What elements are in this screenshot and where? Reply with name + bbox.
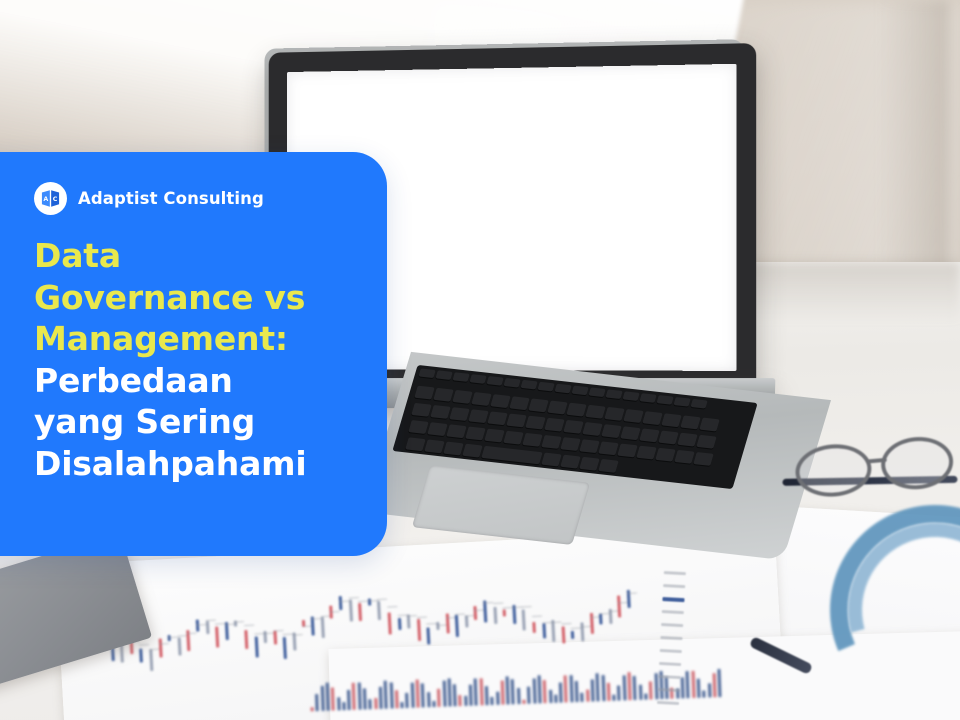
- candlestick: [561, 626, 565, 643]
- candlestick: [532, 622, 536, 633]
- axis-tick-label: [658, 688, 680, 692]
- keyboard-key: [560, 437, 581, 451]
- axis-tick-label: [662, 610, 684, 614]
- volume-bar: [421, 683, 425, 707]
- keyboard-key: [446, 424, 467, 438]
- keyboard-key: [674, 450, 695, 464]
- keyboard-key: [661, 413, 682, 427]
- keyboard-key: [604, 407, 625, 421]
- keyboard-key: [690, 399, 707, 409]
- volume-bar: [517, 688, 521, 704]
- chart-trend-line: [159, 643, 169, 645]
- chart-trend-line: [168, 636, 178, 638]
- chart-trend-line: [149, 648, 159, 650]
- chart-trend-line: [542, 622, 552, 624]
- candlestick: [149, 649, 153, 671]
- candlestick: [339, 596, 343, 610]
- svg-text:A: A: [43, 196, 48, 203]
- keyboard-key: [642, 411, 663, 425]
- candlestick: [551, 620, 555, 642]
- adaptist-book-monogram-icon: A C: [34, 182, 67, 215]
- axis-tick-label: [657, 701, 679, 705]
- volume-bar: [501, 681, 505, 705]
- headline-line-3: Management:: [34, 318, 353, 360]
- keyboard-key: [418, 368, 435, 378]
- keyboard-key: [554, 384, 571, 394]
- candlestick: [455, 615, 459, 636]
- volume-bar: [337, 697, 340, 710]
- headline-line-2: Governance vs: [34, 277, 353, 319]
- volume-bar: [537, 675, 541, 703]
- chart-trend-line: [455, 614, 465, 616]
- keyboard-key: [509, 396, 530, 410]
- brand-lockup: A C Adaptist Consulting: [34, 182, 353, 215]
- chart-trend-line: [205, 619, 215, 621]
- keyboard-key: [452, 390, 473, 404]
- keyboard-key: [563, 420, 584, 434]
- brand-name: Adaptist Consulting: [78, 189, 264, 208]
- candlestick: [427, 627, 431, 645]
- volume-bar: [357, 682, 361, 709]
- volume-bar: [342, 702, 345, 710]
- chart-trend-line: [571, 628, 581, 630]
- volume-bar: [464, 696, 467, 706]
- volume-bar: [575, 681, 579, 702]
- chart-trend-line: [358, 601, 368, 603]
- chart-trend-line: [225, 624, 235, 626]
- candlestick: [474, 606, 478, 620]
- chart-trend-line: [339, 600, 349, 602]
- volume-bar: [474, 678, 478, 705]
- volume-bar: [432, 701, 435, 707]
- candlestick: [215, 626, 219, 648]
- volume-bar: [442, 680, 446, 706]
- candlestick: [599, 614, 603, 625]
- candlestick: [321, 617, 325, 639]
- candlestick: [254, 636, 258, 658]
- chart-trend-line: [618, 602, 628, 604]
- chart-trend-line: [512, 606, 522, 608]
- keyboard-key: [411, 403, 432, 417]
- chart-trend-line: [368, 600, 378, 602]
- volume-bar: [374, 698, 377, 710]
- keyboard-key: [620, 426, 641, 440]
- keyboard-key: [486, 376, 503, 386]
- candlestick: [571, 631, 574, 639]
- keyboard-key: [443, 442, 464, 456]
- keyboard-key: [547, 401, 568, 415]
- volume-bar: [405, 693, 409, 708]
- candlestick: [140, 649, 144, 662]
- volume-bar: [527, 687, 531, 704]
- candlestick: [445, 614, 449, 633]
- volume-bar: [522, 700, 525, 704]
- volume-bar: [447, 679, 451, 707]
- candlestick: [542, 623, 546, 638]
- candlestick: [196, 619, 200, 632]
- volume-bar: [320, 685, 324, 710]
- volume-bar: [601, 675, 605, 701]
- volume-bar: [416, 680, 420, 708]
- axis-tick-label: [660, 636, 682, 640]
- chart-trend-line: [407, 615, 417, 617]
- candlestick: [522, 610, 526, 631]
- chart-trend-line: [377, 599, 387, 601]
- volume-bar: [639, 685, 643, 700]
- volume-bar: [401, 702, 404, 708]
- keyboard-key: [484, 429, 505, 443]
- candlestick: [377, 601, 381, 620]
- volume-bar: [718, 669, 722, 697]
- eyeglasses-left-lens: [793, 441, 873, 499]
- keyboard-key: [471, 392, 492, 406]
- volume-bar: [352, 683, 356, 710]
- title-card: A C Adaptist Consulting Data Governance …: [0, 152, 387, 556]
- chart-trend-line: [311, 618, 321, 620]
- keyboard-key: [677, 433, 698, 447]
- chart-trend-line: [387, 606, 397, 608]
- keyboard-key: [487, 411, 508, 425]
- volume-bar: [326, 683, 330, 711]
- chart-trend-line: [177, 635, 187, 637]
- chart-trend-line: [321, 616, 331, 618]
- candlestick: [388, 613, 392, 634]
- volume-bar: [612, 695, 615, 701]
- chart-trend-line: [283, 633, 293, 635]
- volume-bar: [369, 700, 372, 710]
- volume-bar: [549, 690, 552, 703]
- chart-trend-line: [293, 634, 303, 636]
- keyboard-key: [622, 391, 639, 401]
- chart-trend-line: [254, 633, 264, 635]
- volume-bar: [479, 679, 483, 706]
- volume-bar: [543, 680, 547, 703]
- volume-bar: [712, 674, 716, 698]
- keyboard-key: [520, 380, 537, 390]
- volume-bar: [427, 692, 431, 707]
- chart-trend-line: [273, 630, 283, 632]
- keyboard-key: [424, 439, 445, 453]
- volume-bar: [485, 686, 489, 706]
- chart-trend-line: [581, 626, 591, 628]
- volume-bar: [496, 691, 499, 704]
- volume-bar: [649, 681, 653, 699]
- chart-trend-line: [503, 607, 513, 609]
- headline-line-6: Disalahpahami: [34, 443, 353, 485]
- volume-bar: [554, 695, 557, 703]
- chart-trend-line: [139, 644, 149, 646]
- keyboard-key: [601, 424, 622, 438]
- axis-tick-label: [662, 597, 684, 602]
- chart-trend-line: [599, 613, 609, 615]
- volume-bar: [363, 688, 367, 709]
- chart-trend-line: [522, 606, 532, 608]
- volume-bar: [469, 685, 473, 706]
- candlestick: [358, 603, 362, 621]
- keyboard-key: [525, 416, 546, 430]
- chart-trend-line: [483, 602, 493, 604]
- volume-bar: [564, 675, 568, 702]
- headline-line-1: Data: [34, 235, 353, 277]
- keyboard-key: [598, 441, 619, 455]
- axis-tick-label: [659, 662, 681, 666]
- chart-trend-line: [465, 615, 475, 617]
- keyboard-key: [537, 382, 554, 392]
- chart-trend-line: [532, 615, 542, 617]
- chart-trend-line: [264, 633, 274, 635]
- chart-trend-line: [446, 617, 456, 619]
- volume-bar: [384, 681, 388, 709]
- axis-tick-label: [661, 623, 683, 627]
- chart-trend-line: [590, 617, 600, 619]
- keyboard-key: [639, 393, 656, 403]
- candlestick: [465, 616, 469, 628]
- chart-trend-line: [474, 610, 484, 612]
- chart-trend-line: [348, 597, 358, 599]
- volume-bar: [532, 678, 536, 704]
- candlestick: [349, 600, 353, 622]
- volume-bar: [379, 687, 383, 709]
- keyboard-key: [414, 386, 435, 400]
- volume-bar: [395, 690, 399, 708]
- keyboard-key: [605, 389, 622, 399]
- keyboard-key: [541, 435, 562, 449]
- keyboard-key: [623, 409, 644, 423]
- volume-bar: [591, 679, 595, 702]
- keyboard-key: [680, 415, 701, 429]
- candlestick: [503, 609, 506, 617]
- candlestick: [205, 621, 209, 634]
- keyboard-key: [462, 444, 483, 458]
- chart-trend-line: [627, 592, 637, 594]
- volume-bar: [644, 693, 647, 699]
- candlestick: [158, 639, 162, 657]
- volume-bar: [491, 697, 494, 705]
- candlestick: [617, 595, 621, 617]
- keyboard-key: [469, 374, 486, 384]
- volume-bar: [628, 672, 632, 700]
- headline-line-5: yang Sering: [34, 401, 353, 443]
- volume-bar: [315, 695, 319, 712]
- volume-bar: [511, 679, 515, 704]
- keyboard-key: [408, 420, 429, 434]
- svg-text:C: C: [53, 196, 58, 203]
- keyboard-key: [617, 443, 638, 457]
- chart-trend-line: [493, 603, 503, 605]
- keyboard-key: [579, 457, 600, 471]
- candlestick: [311, 617, 315, 636]
- candlestick: [493, 607, 497, 625]
- chart-trend-line: [436, 624, 446, 626]
- candlestick: [177, 637, 181, 656]
- keyboard-key: [435, 370, 452, 380]
- keyboard-key: [696, 435, 717, 449]
- volume-bar: [702, 690, 705, 697]
- volume-bar: [437, 689, 441, 707]
- keyboard-key: [465, 426, 486, 440]
- candlestick: [368, 599, 371, 606]
- volume-bar: [633, 676, 637, 700]
- wall-shadow-edge: [880, 0, 950, 300]
- keyboard-key: [468, 409, 489, 423]
- chart-trend-line: [561, 623, 571, 625]
- keyboard-key: [522, 433, 543, 447]
- headline: Data Governance vs Management: Perbedaan…: [34, 235, 353, 484]
- chart-axis-labels: [656, 571, 704, 720]
- volume-bar: [607, 683, 611, 701]
- keyboard-key: [598, 459, 619, 473]
- keyboard-key: [528, 398, 549, 412]
- keyboard-key: [490, 394, 511, 408]
- volume-bar: [347, 690, 351, 710]
- volume-bar: [389, 682, 393, 708]
- chart-trend-line: [234, 621, 244, 623]
- candlestick: [273, 631, 277, 645]
- chart-trend-line: [427, 623, 437, 625]
- chart-trend-line: [196, 624, 206, 626]
- keyboard-key: [560, 455, 581, 469]
- chart-trend-line: [330, 611, 340, 613]
- keyboard-key: [693, 452, 714, 466]
- keyboard-key: [582, 422, 603, 436]
- axis-tick-label: [663, 584, 685, 588]
- axis-tick-label: [660, 649, 682, 653]
- candlestick: [580, 622, 584, 642]
- keyboard-key: [656, 395, 673, 405]
- axis-tick-label: [664, 571, 686, 575]
- keyboard-key: [585, 405, 606, 419]
- chart-trend-line: [552, 621, 562, 623]
- keyboard-key: [503, 378, 520, 388]
- headline-line-4: Perbedaan: [34, 360, 353, 402]
- chart-trend-line: [609, 611, 619, 613]
- keyboard-key: [579, 439, 600, 453]
- keyboard-key: [566, 403, 587, 417]
- chart-trend-line: [187, 633, 197, 635]
- chart-trend-line: [244, 625, 254, 627]
- volume-bar: [331, 687, 335, 710]
- volume-bar: [506, 676, 510, 704]
- keyboard-key: [544, 418, 565, 432]
- keyboard-key: [481, 446, 543, 464]
- keyboard-key: [405, 437, 426, 451]
- candlestick: [283, 637, 287, 659]
- candlestick: [398, 618, 402, 630]
- volume-bar: [311, 707, 314, 711]
- keyboard-key: [658, 431, 679, 445]
- volume-bar: [586, 690, 589, 702]
- chart-trend-line: [302, 625, 312, 627]
- candlestick: [244, 630, 248, 649]
- chart-trend-line: [397, 615, 407, 617]
- keyboard-key: [571, 386, 588, 396]
- keyboard-key: [655, 448, 676, 462]
- volume-bar: [580, 692, 583, 701]
- volume-bar: [559, 683, 563, 703]
- keyboard-key: [430, 405, 451, 419]
- keyboard-key: [673, 397, 690, 407]
- keyboard-key: [639, 428, 660, 442]
- volume-bar: [410, 683, 414, 708]
- volume-bar: [617, 685, 621, 700]
- volume-bar: [622, 676, 626, 701]
- keyboard-key: [588, 387, 605, 397]
- volume-bar: [707, 684, 710, 698]
- keyboard-key: [433, 388, 454, 402]
- keyboard-key: [452, 372, 469, 382]
- keyboard-key: [699, 418, 720, 432]
- candlestick: [417, 619, 421, 641]
- keyboard-key: [449, 407, 470, 421]
- chart-trend-line: [417, 616, 427, 618]
- keyboard-key: [427, 422, 448, 436]
- axis-tick-label: [658, 675, 680, 679]
- volume-bar: [569, 675, 573, 702]
- chart-trend-line: [215, 623, 225, 625]
- volume-bar: [459, 695, 462, 706]
- keyboard-key: [506, 413, 527, 427]
- volume-bar: [453, 684, 457, 706]
- eyeglasses: [787, 424, 960, 525]
- keyboard-key: [503, 431, 524, 445]
- volume-bar: [596, 674, 600, 702]
- keyboard-key: [636, 446, 657, 460]
- keyboard-key: [541, 453, 562, 467]
